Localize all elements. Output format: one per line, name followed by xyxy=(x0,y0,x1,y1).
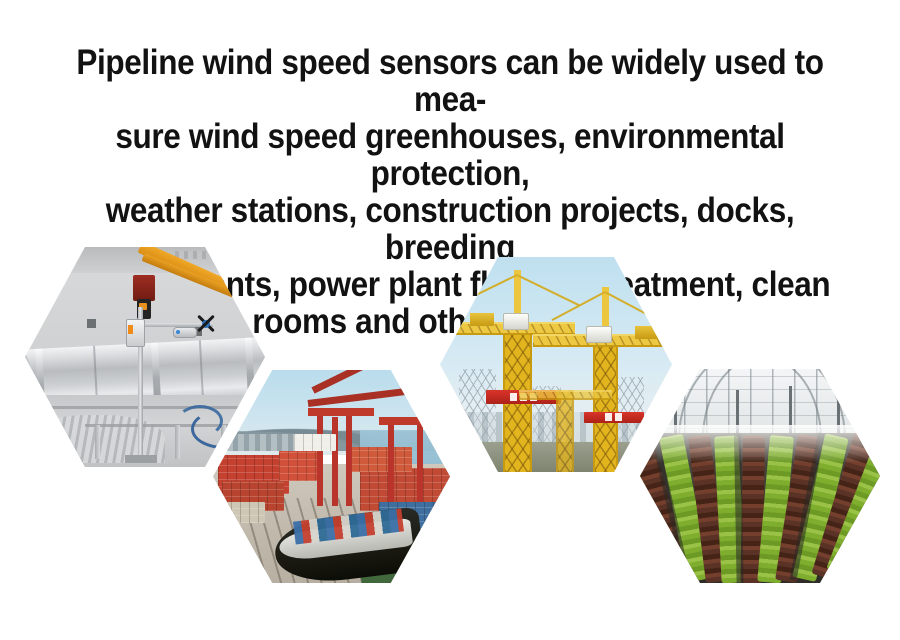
container-stack xyxy=(279,451,317,481)
hex-image-greenhouse-lettuce-rows xyxy=(640,369,880,583)
wall-mark xyxy=(87,319,96,328)
support-leg xyxy=(175,425,180,459)
tower-crane-cab xyxy=(503,313,529,330)
banner-glyph xyxy=(510,393,517,401)
pipeline-duct-scene xyxy=(25,247,265,467)
tower-crane-mast xyxy=(593,334,618,472)
container-stack xyxy=(213,502,265,523)
poster-canvas: Pipeline wind speed sensors can be widel… xyxy=(0,0,900,640)
tower-crane-counterweight xyxy=(635,326,659,339)
probe-indicator-light xyxy=(176,330,180,334)
gantry-crane-leg xyxy=(317,408,323,506)
construction-site-scene xyxy=(440,257,672,472)
blue-hose xyxy=(177,405,223,437)
gantry-crane-leg xyxy=(332,417,338,506)
duct-ring xyxy=(35,349,46,427)
container-port-scene xyxy=(213,370,450,583)
crane-hoist xyxy=(133,275,155,301)
ultrasonic-anemometer-icon xyxy=(195,313,217,335)
hex-image-pipeline-duct-sensor xyxy=(25,247,265,467)
banner-glyph xyxy=(605,413,612,421)
gantry-crane-beam xyxy=(379,417,441,425)
ceiling-beam xyxy=(175,251,265,259)
background-crane-mast xyxy=(556,390,574,472)
container-stack xyxy=(350,447,412,473)
gantry-crane-leg xyxy=(388,417,394,502)
sensor-mast-base xyxy=(125,455,157,463)
hex-image-construction-tower-cranes xyxy=(440,257,672,472)
crane-machine-house xyxy=(294,434,337,451)
anemometer-hub xyxy=(202,320,210,328)
hex-image-container-port-dock xyxy=(213,370,450,583)
hexagon-image-gallery xyxy=(0,0,900,640)
background-crane-jib xyxy=(519,390,612,400)
gantry-crane-leg xyxy=(417,417,423,502)
tower-crane-cab xyxy=(586,326,612,343)
greenhouse-light-haze xyxy=(640,425,880,464)
gantry-crane-leg xyxy=(346,408,352,506)
support-leg xyxy=(95,425,100,459)
tower-crane-counterweight xyxy=(470,313,494,326)
banner-glyph xyxy=(615,413,622,421)
controller-indicator-light xyxy=(128,325,133,334)
crane-banner xyxy=(584,412,644,423)
greenhouse-scene xyxy=(640,369,880,583)
gantry-crane-beam xyxy=(308,408,374,416)
